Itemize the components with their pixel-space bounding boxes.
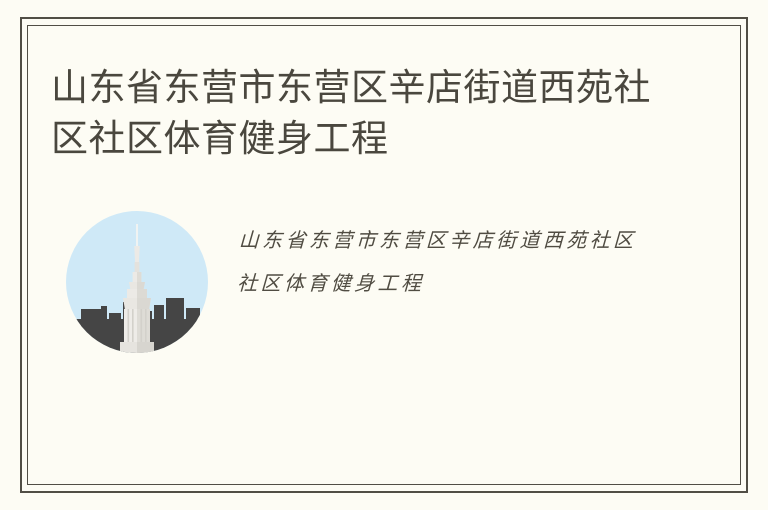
content-row: 山东省东营市东营区辛店街道西苑社区社区体育健身工程 <box>51 205 691 365</box>
page-title: 山东省东营市东营区辛店街道西苑社区社区体育健身工程 <box>51 62 671 164</box>
skyscraper-city-icon <box>65 210 209 354</box>
poster-card: 山东省东营市东营区辛店街道西苑社区社区体育健身工程 <box>0 0 768 510</box>
caption-text: 山东省东营市东营区辛店街道西苑社区社区体育健身工程 <box>236 219 659 305</box>
